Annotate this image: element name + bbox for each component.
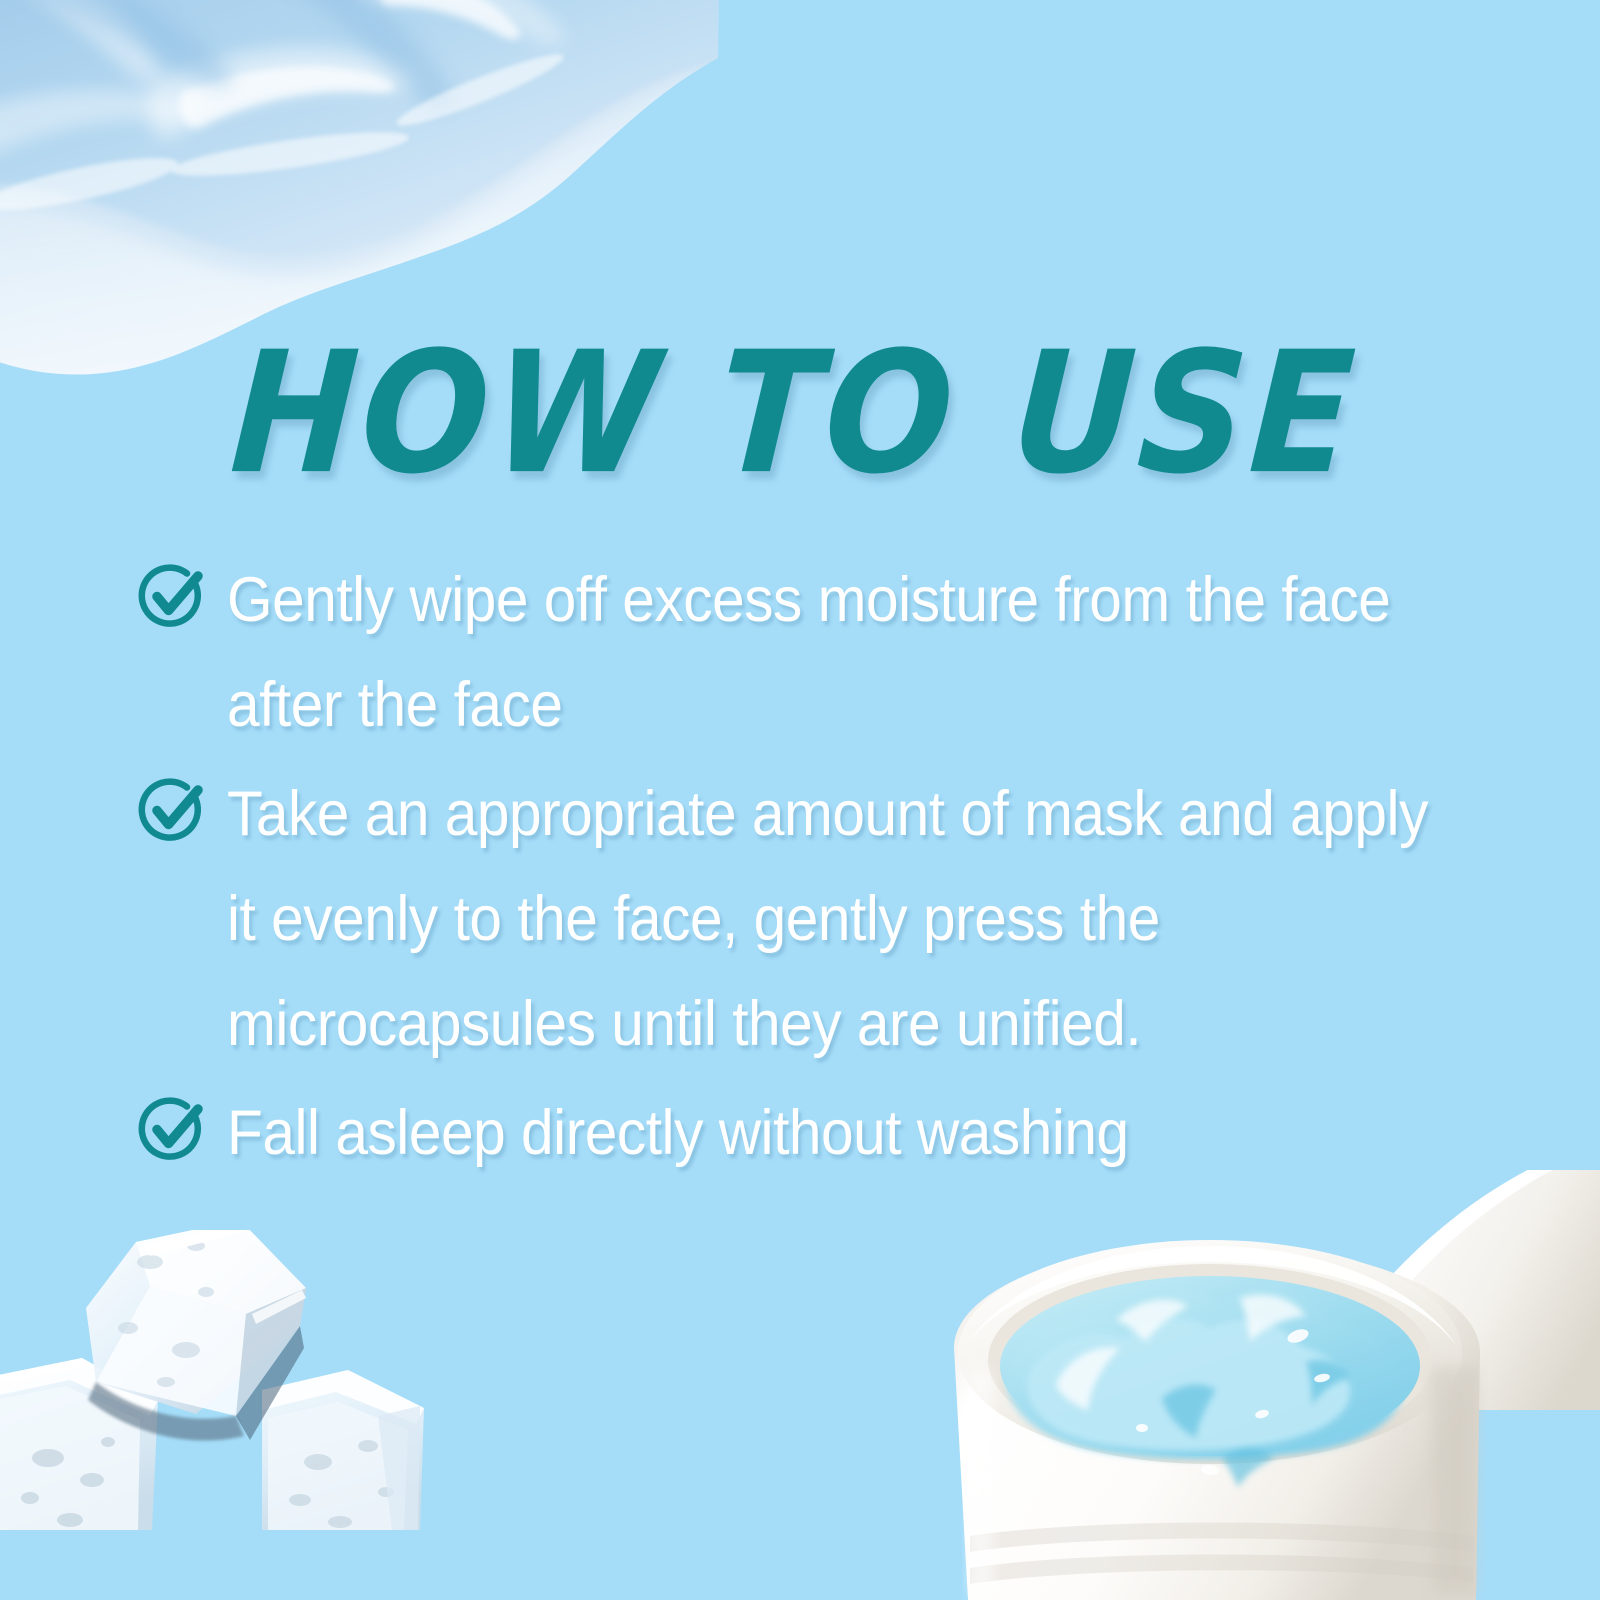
list-item: Fall asleep directly without washing <box>135 1081 1565 1186</box>
check-circle-icon <box>135 560 207 632</box>
check-circle-icon <box>135 774 207 846</box>
how-to-use-steps-list: Gently wipe off excess moisture from the… <box>135 548 1565 1190</box>
list-item-label: Gently wipe off excess moisture from the… <box>227 548 1471 758</box>
list-item-label: Take an appropriate amount of mask and a… <box>227 762 1471 1077</box>
list-item: Take an appropriate amount of mask and a… <box>135 762 1565 1077</box>
list-item: Gently wipe off excess moisture from the… <box>135 548 1565 758</box>
check-circle-icon <box>135 1093 207 1165</box>
how-to-use-poster: HOW TO USE Gently wipe off excess moistu… <box>0 0 1600 1600</box>
page-title: HOW TO USE <box>0 330 1600 498</box>
cream-jar-decoration <box>910 1170 1600 1600</box>
ice-cubes-decoration <box>0 1230 470 1600</box>
list-item-label: Fall asleep directly without washing <box>227 1081 1471 1186</box>
